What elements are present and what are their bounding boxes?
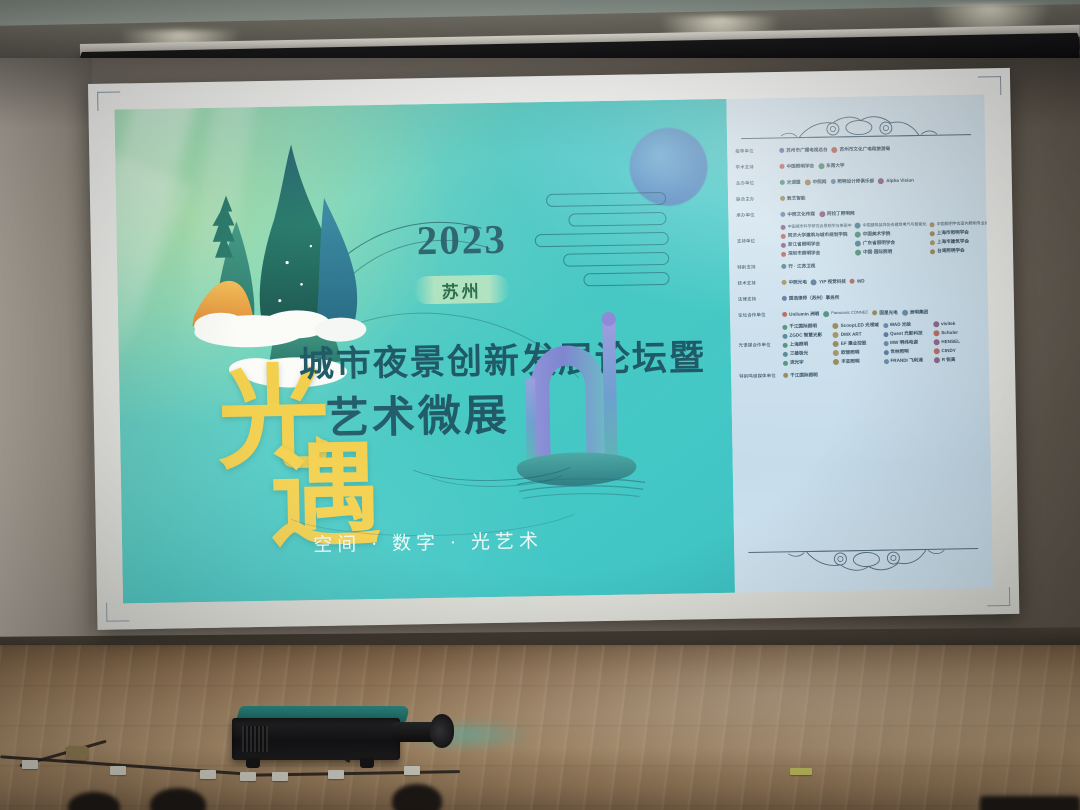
sponsor-logo: 中国照明学会: [779, 163, 814, 169]
sponsor-logo: 洲明集团: [902, 309, 928, 315]
sponsor-logo-name: WD: [857, 278, 865, 284]
sponsor-logo: CINDY: [933, 347, 980, 354]
sponsor-row: 学术支持中国照明学会东南大学: [735, 156, 977, 173]
sponsor-logo-group: 数艺智能: [780, 192, 978, 201]
sponsor-logo-name: Alpha Vision: [886, 177, 914, 183]
sponsor-logo: 丰亚照明: [833, 358, 880, 365]
sponsor-logo-name: 中照光电: [789, 279, 807, 285]
sponsor-logo-mark: [783, 360, 788, 365]
sponsor-logo: YIP 视觉科技: [811, 278, 846, 285]
cable-tape: [240, 772, 256, 781]
sponsor-logo-name: 东南大学: [826, 163, 844, 169]
sponsor-logo: 中国照明学会室内照明专业委员会: [930, 221, 993, 227]
sponsor-logo-name: 丰亚照明: [841, 359, 859, 365]
sponsor-row-label: 学术支持: [736, 164, 780, 170]
sponsor-logo-name: 广东省照明学会: [863, 240, 895, 246]
sponsor-logo: Panasonic CONNEC: [823, 310, 868, 317]
poster-artwork: 2023 苏州 光 遇 城市夜景创新发展论坛暨 艺术微展: [114, 99, 735, 604]
sponsor-logo-name: ZGDC 智慧光影: [789, 332, 822, 338]
audience-head: [980, 796, 1080, 810]
cable-tape: [22, 760, 38, 769]
sponsor-logo: DMX ART: [833, 331, 880, 338]
sponsor-logo-name: vivitek: [941, 321, 955, 327]
screen-corner-marker: [987, 587, 1010, 606]
sponsor-logo-group: 千江国际照明ScoopLED 光领域WAD 光绘vivitekZGDC 智慧光影…: [782, 320, 981, 365]
sponsor-logo-mark: [883, 332, 888, 337]
sponsor-logo-mark: [781, 264, 786, 269]
sponsor-logo: 中国城市科学研究会景观学与美丽中: [781, 223, 852, 229]
sponsor-list: 指导单位苏州市广播电视总台苏州市文化广电和旅游局学术支持中国照明学会东南大学主办…: [727, 140, 992, 560]
sponsor-row: 特别支持行 · 江苏卫视: [737, 256, 979, 273]
projection-screen: 2023 苏州 光 遇 城市夜景创新发展论坛暨 艺术微展: [88, 68, 1019, 630]
sponsor-logo: Schuler: [933, 329, 980, 336]
sponsor-logo-mark: [933, 339, 939, 345]
sponsor-logo-mark: [830, 179, 835, 184]
cable-tape: [404, 766, 420, 775]
sponsor-row-label: 特别支持: [737, 264, 781, 270]
projector-vent: [242, 726, 268, 752]
cable-tape: [328, 770, 344, 779]
sponsor-logo-name: 千江国际照明: [789, 324, 817, 330]
sponsor-logo-name: 台湾照明学会: [937, 248, 965, 254]
sponsor-logo-group: 中国城市科学研究会景观学与美丽中中国建筑装饰协会建筑电气与智能化中国照明学会室内…: [781, 220, 993, 257]
sponsor-row: 论坛合作单位Unilumin 洲明Panasonic CONNEC国星光电洲明集…: [738, 304, 980, 321]
sponsor-logo-name: 三雄极光: [790, 351, 808, 357]
sponsor-logo: 国浩律师（苏州）事务所: [782, 295, 840, 302]
ornament-top: [741, 109, 971, 143]
sponsor-logo-name: 中国建筑装饰协会建筑电气与智能化: [863, 222, 927, 228]
sponsor-logo-mark: [782, 280, 787, 285]
sponsor-logo: 阿拉丁照明网: [819, 210, 855, 217]
sponsor-row-label: 联合主办: [736, 196, 780, 202]
sponsor-row-label: 论坛合作单位: [738, 312, 782, 318]
city-badge: 苏州: [413, 275, 509, 305]
sponsor-logo: Quest 光影科技: [883, 331, 930, 337]
sponsor-logo: 广东省照明学会: [855, 239, 927, 246]
sponsor-logo-name: HENSEL: [941, 339, 960, 345]
sponsor-logo-name: 行 · 江苏卫视: [788, 263, 815, 269]
sponsor-row-label: 支持单位: [737, 238, 781, 244]
sponsor-row-label: 指导单位: [735, 148, 779, 154]
sponsor-logo: MW 明纬电源: [883, 340, 930, 346]
screen-corner-marker: [106, 602, 129, 621]
sponsor-logo: 中国·国际照明: [855, 248, 927, 255]
sponsor-logo-name: 阿拉丁照明网: [827, 210, 855, 216]
sponsor-logo-mark: [781, 224, 786, 229]
sponsor-logo-mark: [819, 211, 825, 217]
sponsor-logo-mark: [783, 342, 788, 347]
sponsor-logo-name: 国星光电: [879, 310, 897, 316]
sponsor-logo: FRANDI 飞利浦: [883, 358, 930, 364]
sponsor-row: 主办单位光语盟中照网照明设计师俱乐部Alpha Vision: [736, 172, 978, 189]
sponsor-logo: 上海市照明学会: [930, 229, 993, 236]
sponsor-logo: 国星光电: [872, 310, 897, 316]
sponsor-logo-mark: [878, 178, 884, 184]
sponsor-logo-name: 同济大学建筑与城市规划学院: [788, 232, 848, 239]
sponsor-logo: 中照光电: [782, 279, 807, 285]
sponsor-logo-mark: [781, 233, 786, 238]
cable-tape: [272, 772, 288, 781]
sponsor-logo: 台湾照明学会: [930, 247, 993, 254]
sponsor-logo-name: CINDY: [941, 348, 955, 354]
sponsor-logo-group: 国浩律师（苏州）事务所: [782, 292, 980, 301]
ornament-bottom: [748, 543, 978, 577]
sponsor-row: 支持单位中国城市科学研究会景观学与美丽中中国建筑装饰协会建筑电气与智能化中国照明…: [737, 220, 980, 257]
audience-head: [392, 784, 442, 810]
sponsor-logo-mark: [818, 163, 824, 169]
sponsor-logo: WD: [850, 278, 865, 284]
sponsor-logo-name: 上海照明: [790, 342, 808, 348]
sponsor-logo-group: 中国照明学会东南大学: [779, 160, 977, 169]
sponsor-logo-group: 千江国际照明: [783, 369, 981, 378]
cloud-bar-motif: [583, 272, 669, 286]
sponsor-logo: 上海市建筑学会: [930, 238, 993, 245]
sponsor-logo: 同济大学建筑与城市规划学院: [781, 232, 852, 239]
sponsor-logo: 东南大学: [818, 162, 844, 168]
sponsor-logo-name: MW 明纬电源: [890, 340, 918, 346]
sponsor-logo: Unilumin 洲明: [782, 311, 819, 317]
sponsor-logo-mark: [782, 324, 787, 329]
sponsor-row: 技术支持中照光电YIP 视觉科技WD: [737, 272, 979, 289]
sponsor-logo-mark: [783, 351, 788, 356]
cable-tape: [200, 770, 216, 779]
sponsor-logo-name: Schuler: [941, 330, 958, 336]
sponsor-logo-name: EF 建业控股: [841, 341, 867, 347]
sponsor-logo: 三雄极光: [783, 350, 830, 356]
side-wall: [0, 58, 92, 648]
photo-scene: 2023 苏州 光 遇 城市夜景创新发展论坛暨 艺术微展: [0, 0, 1080, 810]
sponsor-logo-mark: [833, 350, 839, 356]
sponsor-logo-mark: [883, 359, 888, 364]
sponsor-row-label: 特别鸣谢媒体单位: [739, 373, 783, 379]
sponsor-logo-mark: [783, 373, 788, 378]
sponsor-logo: 中国美术学院: [855, 230, 927, 237]
projected-slide: 2023 苏州 光 遇 城市夜景创新发展论坛暨 艺术微展: [114, 94, 992, 603]
sponsor-logo-name: Unilumin 洲明: [789, 311, 819, 317]
sponsor-logo-mark: [833, 332, 839, 338]
sponsor-logo-name: 浙江省照明学会: [788, 241, 820, 247]
sponsor-logo: 中照网: [805, 179, 827, 185]
sponsor-logo-name: ScoopLED 光领域: [841, 322, 879, 328]
sponsor-logo: vivitek: [933, 320, 980, 327]
sponsor-logo-group: 中照文化传媒阿拉丁照明网: [780, 208, 978, 217]
sponsor-logo: ZGDC 智慧光影: [782, 332, 829, 338]
sponsor-logo-mark: [780, 196, 785, 201]
sponsor-logo-mark: [883, 350, 888, 355]
sponsor-logo-name: 中照网: [813, 179, 827, 185]
sponsor-logo-mark: [823, 311, 829, 317]
sponsor-logo: 苏州市广播电视总台: [779, 147, 827, 153]
sponsor-logo-mark: [782, 296, 787, 301]
sponsor-logo-mark: [855, 250, 861, 256]
sponsor-logo-mark: [782, 312, 787, 317]
sponsor-logo-name: 照明设计师俱乐部: [837, 178, 874, 184]
screen-corner-marker: [97, 91, 120, 110]
sponsor-logo-name: 上海市建筑学会: [937, 239, 969, 245]
sponsor-logo-name: 流光宇: [790, 360, 804, 366]
sponsor-logo-name: 数艺智能: [787, 195, 805, 201]
sponsor-logo: ScoopLED 光领域: [833, 322, 880, 329]
sponsor-logo-mark: [833, 323, 839, 329]
sponsor-logo: 光语盟: [780, 179, 801, 185]
sponsor-logo-mark: [782, 333, 787, 338]
sponsor-logo: 中照文化传媒: [780, 211, 815, 217]
sponsor-logo-name: 洲明集团: [910, 309, 928, 315]
sponsor-logo-mark: [934, 357, 940, 363]
sponsor-logo-name: 中照文化传媒: [787, 211, 815, 217]
sponsor-logo-mark: [883, 323, 888, 328]
sponsor-logo: EF 建业控股: [833, 340, 880, 347]
sponsor-logo-name: 光语盟: [787, 179, 801, 185]
sponsor-logo-mark: [902, 309, 908, 315]
sponsor-logo-mark: [933, 321, 939, 327]
sponsor-logo-mark: [872, 310, 877, 315]
sponsor-logo-name: 苏州市文化广电和旅游局: [840, 146, 891, 152]
sponsor-logo-mark: [779, 148, 784, 153]
sponsor-logo: 上海照明: [783, 341, 830, 347]
sponsor-logo-mark: [781, 251, 786, 256]
sponsor-row: 法律支持国浩律师（苏州）事务所: [738, 288, 980, 305]
sponsor-logo-name: 中国·国际照明: [863, 249, 892, 255]
sponsor-logo-group: Unilumin 洲明Panasonic CONNEC国星光电洲明集团: [782, 308, 980, 317]
cable-tape: [110, 766, 126, 775]
sponsor-logo-group: 行 · 江苏卫视: [781, 260, 979, 269]
sponsor-logo-name: WAD 光绘: [890, 322, 911, 328]
sponsor-logo: 千江国际照明: [782, 323, 829, 329]
sponsor-logo: HENSEL: [933, 338, 980, 345]
sponsor-row-label: 技术支持: [738, 280, 782, 286]
sponsor-logo-name: 上海市照明学会: [937, 230, 969, 236]
sponsor-logo: Alpha Vision: [878, 177, 914, 184]
cloud-bar-motif: [535, 232, 669, 247]
sponsor-logo-name: R 锐高: [942, 357, 956, 363]
sponsor-logo-name: FRANDI 飞利浦: [890, 358, 923, 364]
cloud-bar-motif: [546, 192, 666, 207]
sponsor-logo-group: 中照光电YIP 视觉科技WD: [782, 276, 980, 285]
sponsor-logo-mark: [833, 359, 839, 365]
sponsor-logo-name: 国浩律师（苏州）事务所: [789, 295, 840, 301]
sponsor-row: 指导单位苏州市广播电视总台苏州市文化广电和旅游局: [735, 140, 977, 157]
sponsor-logo-mark: [930, 249, 935, 254]
poster-tagline: 空间 · 数字 · 光艺术: [122, 523, 734, 561]
sponsor-logo-mark: [781, 242, 786, 247]
cloud-bar-motif: [563, 252, 669, 267]
sponsor-logo-mark: [805, 179, 811, 185]
sponsor-logo-mark: [780, 212, 785, 217]
sponsor-logo: 中国建筑装饰协会建筑电气与智能化: [855, 221, 927, 228]
sponsor-logo: 苏州市文化广电和旅游局: [832, 146, 891, 153]
sponsor-row: 承办单位中照文化传媒阿拉丁照明网: [736, 204, 978, 221]
power-connector: [66, 746, 88, 760]
sponsor-logo-mark: [832, 146, 838, 152]
sponsor-logo-name: Quest 光影科技: [890, 331, 923, 337]
screen-corner-marker: [978, 76, 1001, 95]
sponsor-row: 特别鸣谢媒体单位千江国际照明: [739, 365, 981, 382]
sponsor-logo-name: 深圳市照明学会: [788, 250, 820, 256]
sponsor-panel: 指导单位苏州市广播电视总台苏州市文化广电和旅游局学术支持中国照明学会东南大学主办…: [726, 94, 993, 592]
sponsor-logo: 世林照明: [883, 349, 930, 355]
cloud-bar-motif: [568, 212, 666, 227]
sponsor-logo-mark: [855, 232, 861, 238]
sponsor-logo: 浙江省照明学会: [781, 241, 852, 248]
sponsor-logo: R 锐高: [934, 356, 981, 363]
sponsor-logo: 千江国际照明: [783, 372, 818, 378]
sponsor-logo-name: 世林照明: [890, 349, 908, 355]
city-badge-label: 苏州: [441, 277, 481, 303]
floor-marker-tape: [790, 768, 812, 775]
sponsor-logo-mark: [811, 279, 817, 285]
sponsor-logo-name: 千江国际照明: [790, 372, 818, 378]
sponsor-logo-mark: [850, 279, 855, 284]
sponsor-logo-mark: [933, 330, 939, 336]
sponsor-logo-mark: [930, 231, 935, 236]
sponsor-logo-mark: [933, 348, 939, 354]
sponsor-logo-name: 中国美术学院: [863, 231, 891, 237]
sponsor-logo-name: 苏州市广播电视总台: [786, 147, 827, 153]
sponsor-row-label: 主办单位: [736, 180, 780, 186]
sponsor-logo: 数艺智能: [780, 195, 805, 201]
sponsor-row-label: 承办单位: [736, 212, 780, 218]
sponsor-logo-mark: [930, 240, 935, 245]
sponsor-logo-mark: [855, 241, 861, 247]
sponsor-logo: 行 · 江苏卫视: [781, 263, 815, 269]
sponsor-logo: 流光宇: [783, 359, 830, 365]
projector-lens-hood: [430, 714, 454, 748]
sponsor-logo-name: 中国照明学会室内照明专业委员会: [937, 221, 993, 227]
sponsor-logo-name: YIP 视觉科技: [819, 279, 846, 285]
sponsor-logo: WAD 光绘: [883, 322, 930, 328]
sponsor-logo: 深圳市照明学会: [781, 250, 852, 257]
sponsor-logo-name: DMX ART: [841, 332, 862, 338]
sponsor-logo-name: 中国城市科学研究会景观学与美丽中: [788, 223, 852, 229]
sponsor-row-label: 光语媒合作单位: [739, 342, 783, 348]
projector-foot: [360, 758, 374, 768]
sponsor-logo-mark: [855, 223, 861, 229]
poster-year: 2023: [416, 215, 507, 265]
sponsor-row: 光语媒合作单位千江国际照明ScoopLED 光领域WAD 光绘vivitekZG…: [738, 320, 981, 366]
sponsor-row-label: 法律支持: [738, 296, 782, 302]
sponsor-logo-group: 光语盟中照网照明设计师俱乐部Alpha Vision: [780, 176, 978, 185]
sponsor-logo: 欧普照明: [833, 349, 880, 356]
sponsor-logo-name: 欧普照明: [841, 350, 859, 356]
projector-foot: [246, 758, 260, 768]
sponsor-row: 联合主办数艺智能: [736, 188, 978, 205]
sponsor-logo-group: 苏州市广播电视总台苏州市文化广电和旅游局: [779, 144, 977, 153]
sponsor-logo-name: Panasonic CONNEC: [831, 311, 868, 316]
sponsor-logo-name: 中国照明学会: [786, 163, 814, 169]
sponsor-logo-mark: [780, 164, 785, 169]
projector: [232, 706, 422, 766]
sponsor-logo-mark: [780, 180, 785, 185]
sponsor-logo-mark: [930, 222, 935, 227]
sponsor-logo-mark: [883, 341, 888, 346]
sponsor-logo-mark: [833, 341, 839, 347]
sponsor-logo: 照明设计师俱乐部: [830, 178, 874, 184]
